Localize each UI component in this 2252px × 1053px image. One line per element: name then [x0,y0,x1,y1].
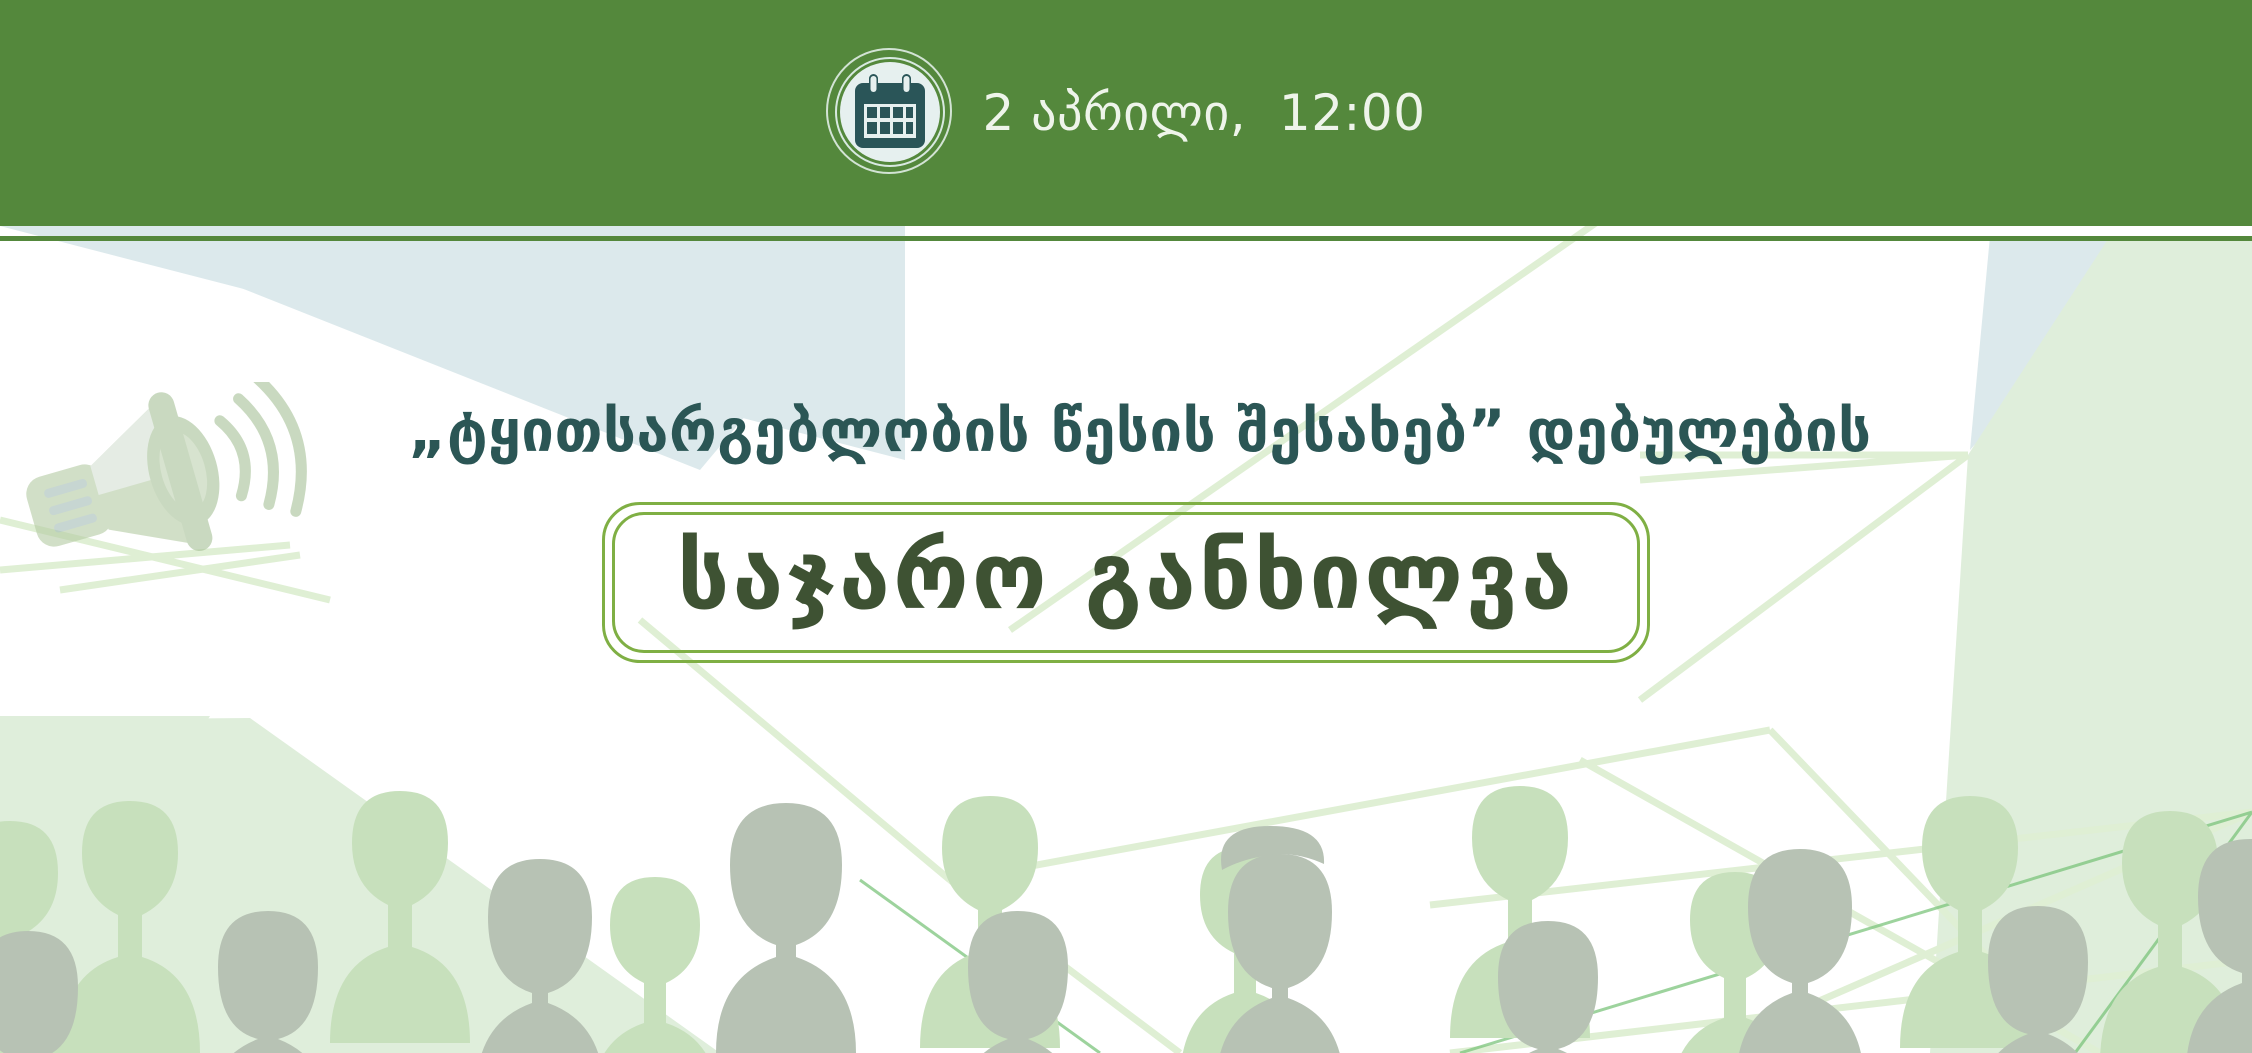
crowd-person-front-with-cap [1216,826,1344,1053]
calendar-badge [826,48,956,178]
decor-line-14 [1430,812,2252,905]
crowd-person-back [1670,872,1800,1053]
decor-line-5 [955,730,1770,880]
decor-line-9 [1580,760,2100,1053]
decor-line-accent-1 [1460,812,2252,1053]
crowd-person-back [0,821,80,1053]
title-box-outer-border: საჯარო განხილვა [602,502,1650,663]
crowd-silhouettes-back [0,723,2252,1053]
public-hearing-banner: 2 აპრილი, 12:00 „ტყითსარგებლობის წესის შ… [0,0,2252,1053]
crowd-person-front [1736,849,1864,1053]
calendar-icon [853,74,927,150]
crowd-person-front [476,859,604,1053]
header-divider-rule [0,236,2252,241]
crowd-person-back [1180,847,1310,1053]
crowd-person-front [2186,839,2252,1053]
decor-line-accent-3 [860,880,1100,1053]
header-bar: 2 აპრილი, 12:00 [0,0,2252,226]
page-title: საჯარო განხილვა [677,525,1575,628]
polygon-green-bottomleft-2 [0,718,720,1053]
decor-line-7 [950,880,1180,1053]
subtitle-text: „ტყითსარგებლობის წესის შესახებ” დებულები… [28,400,2252,464]
polygon-green-bottomleft [0,716,210,1053]
crowd-person-front [1486,921,1610,1053]
header-content: 2 აპრილი, 12:00 [0,0,2252,226]
crowd-person-front [1976,906,2100,1053]
crowd-person-back [590,877,720,1053]
crowd-person-back [920,796,1060,1048]
crowd-person-back [2100,811,2240,1053]
crowd-person-front [201,911,330,1053]
decor-line-6 [1770,730,2010,980]
crowd-person-back [1900,796,2040,1048]
crowd-silhouettes-front [0,723,2252,1053]
headline-block: „ტყითსარგებლობის წესის შესახებ” დებულები… [0,400,2252,663]
decor-line-accent-2 [2075,812,2252,1053]
decor-lines-accent [860,812,2252,1053]
event-datetime: 2 აპრილი, 12:00 [982,88,1425,138]
decor-line-15 [1700,812,2252,1053]
crowd-person-back [330,791,470,1043]
decor-line-10 [1450,960,2252,1053]
crowd-person-back [60,801,200,1053]
crowd-person-front [716,803,856,1053]
crowd-person-front [956,911,1080,1053]
crowd-person-front [0,931,90,1053]
crowd-person-back [1450,786,1590,1038]
title-box-inner-border: საჯარო განხილვა [612,512,1640,653]
title-box-wrapper: საჯარო განხილვა [0,502,2252,663]
